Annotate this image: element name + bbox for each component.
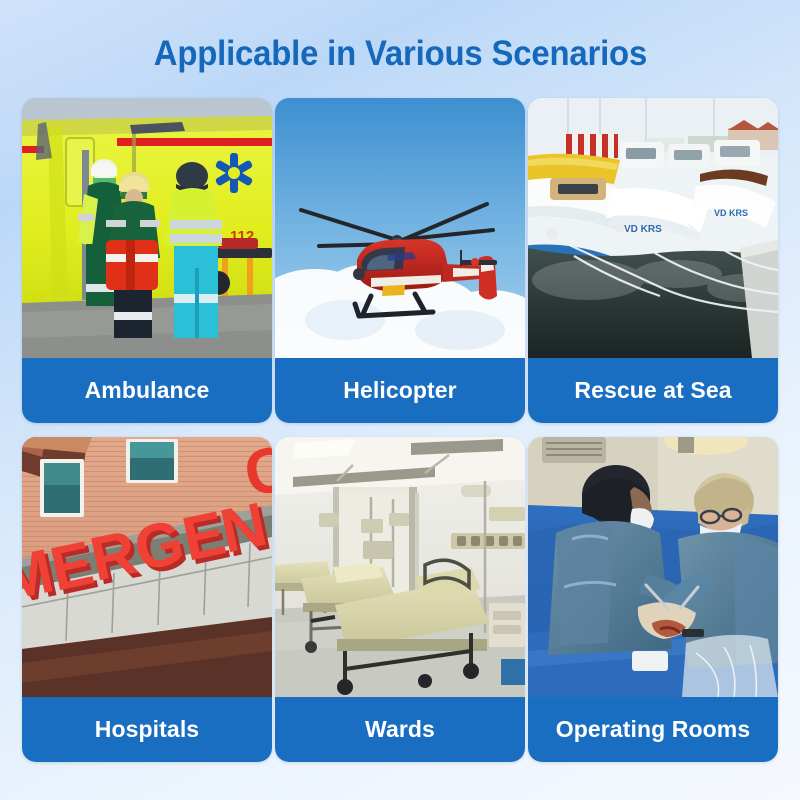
scenario-card-rescue-at-sea[interactable]: VD KRS VD KRS [528, 98, 778, 423]
scenario-card-helicopter[interactable]: Helicopter [275, 98, 525, 423]
rescue-at-sea-photo: VD KRS VD KRS [528, 98, 778, 358]
svg-text:VD KRS: VD KRS [624, 224, 662, 235]
scenario-card-ambulance[interactable]: 112 [22, 98, 272, 423]
scenario-card-label-operating-rooms: Operating Rooms [528, 697, 778, 762]
hospitals-photo: M E R G E N M E R G E N [22, 437, 272, 697]
ambulance-photo: 112 [22, 98, 272, 358]
scenario-card-operating-rooms[interactable]: Operating Rooms [528, 437, 778, 762]
wards-photo [275, 437, 525, 697]
scenario-card-grid: 112 [22, 98, 778, 762]
scenario-card-label-helicopter: Helicopter [275, 358, 525, 423]
svg-text:VD KRS: VD KRS [714, 208, 748, 218]
scenarios-page: Applicable in Various Scenarios [0, 0, 800, 800]
scenario-card-wards[interactable]: Wards [275, 437, 525, 762]
operating-rooms-photo [528, 437, 778, 697]
scenario-card-hospitals[interactable]: M E R G E N M E R G E N [22, 437, 272, 762]
scenario-card-label-hospitals: Hospitals [22, 697, 272, 762]
page-title: Applicable in Various Scenarios [153, 34, 646, 74]
helicopter-photo [275, 98, 525, 358]
scenario-card-label-rescue-at-sea: Rescue at Sea [528, 358, 778, 423]
scenario-card-label-ambulance: Ambulance [22, 358, 272, 423]
scenario-card-label-wards: Wards [275, 697, 525, 762]
